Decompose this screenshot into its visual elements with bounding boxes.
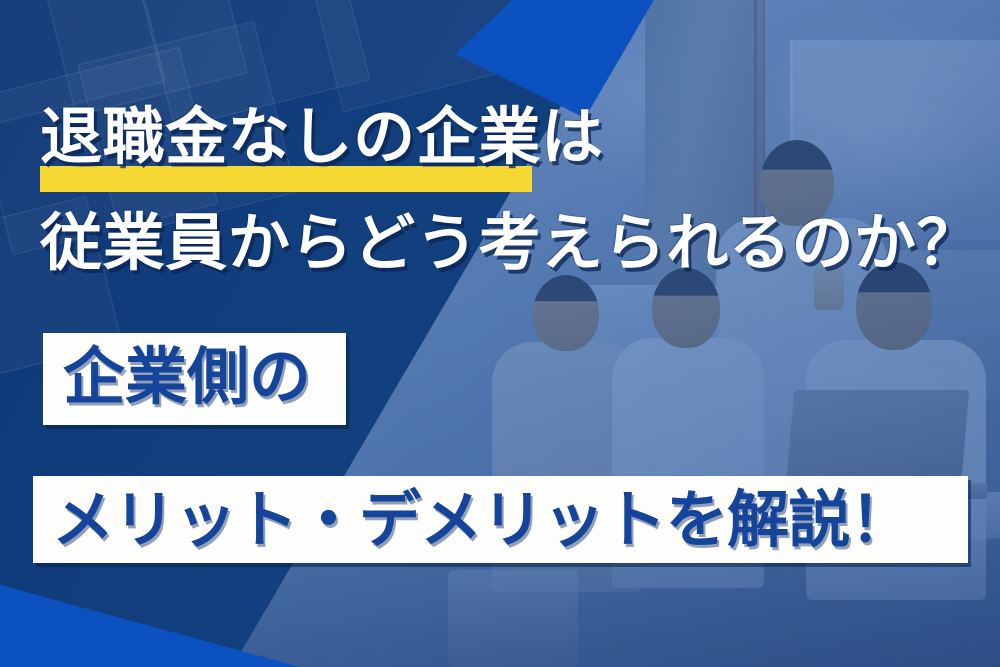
headline-group: 退職金なしの企業は 従業員からどう考えられるのか？ 企業側の メリット・デメリッ… bbox=[0, 0, 1000, 667]
headline-line-1: 退職金なしの企業は bbox=[40, 106, 604, 168]
banner: 退職金なしの企業は 従業員からどう考えられるのか？ 企業側の メリット・デメリッ… bbox=[0, 0, 1000, 667]
headline-line-3: 企業側の bbox=[63, 346, 311, 408]
headline-line-2: 従業員からどう考えられるのか？ bbox=[40, 212, 979, 274]
headline-line-4: メリット・デメリットを解説！ bbox=[52, 489, 911, 551]
